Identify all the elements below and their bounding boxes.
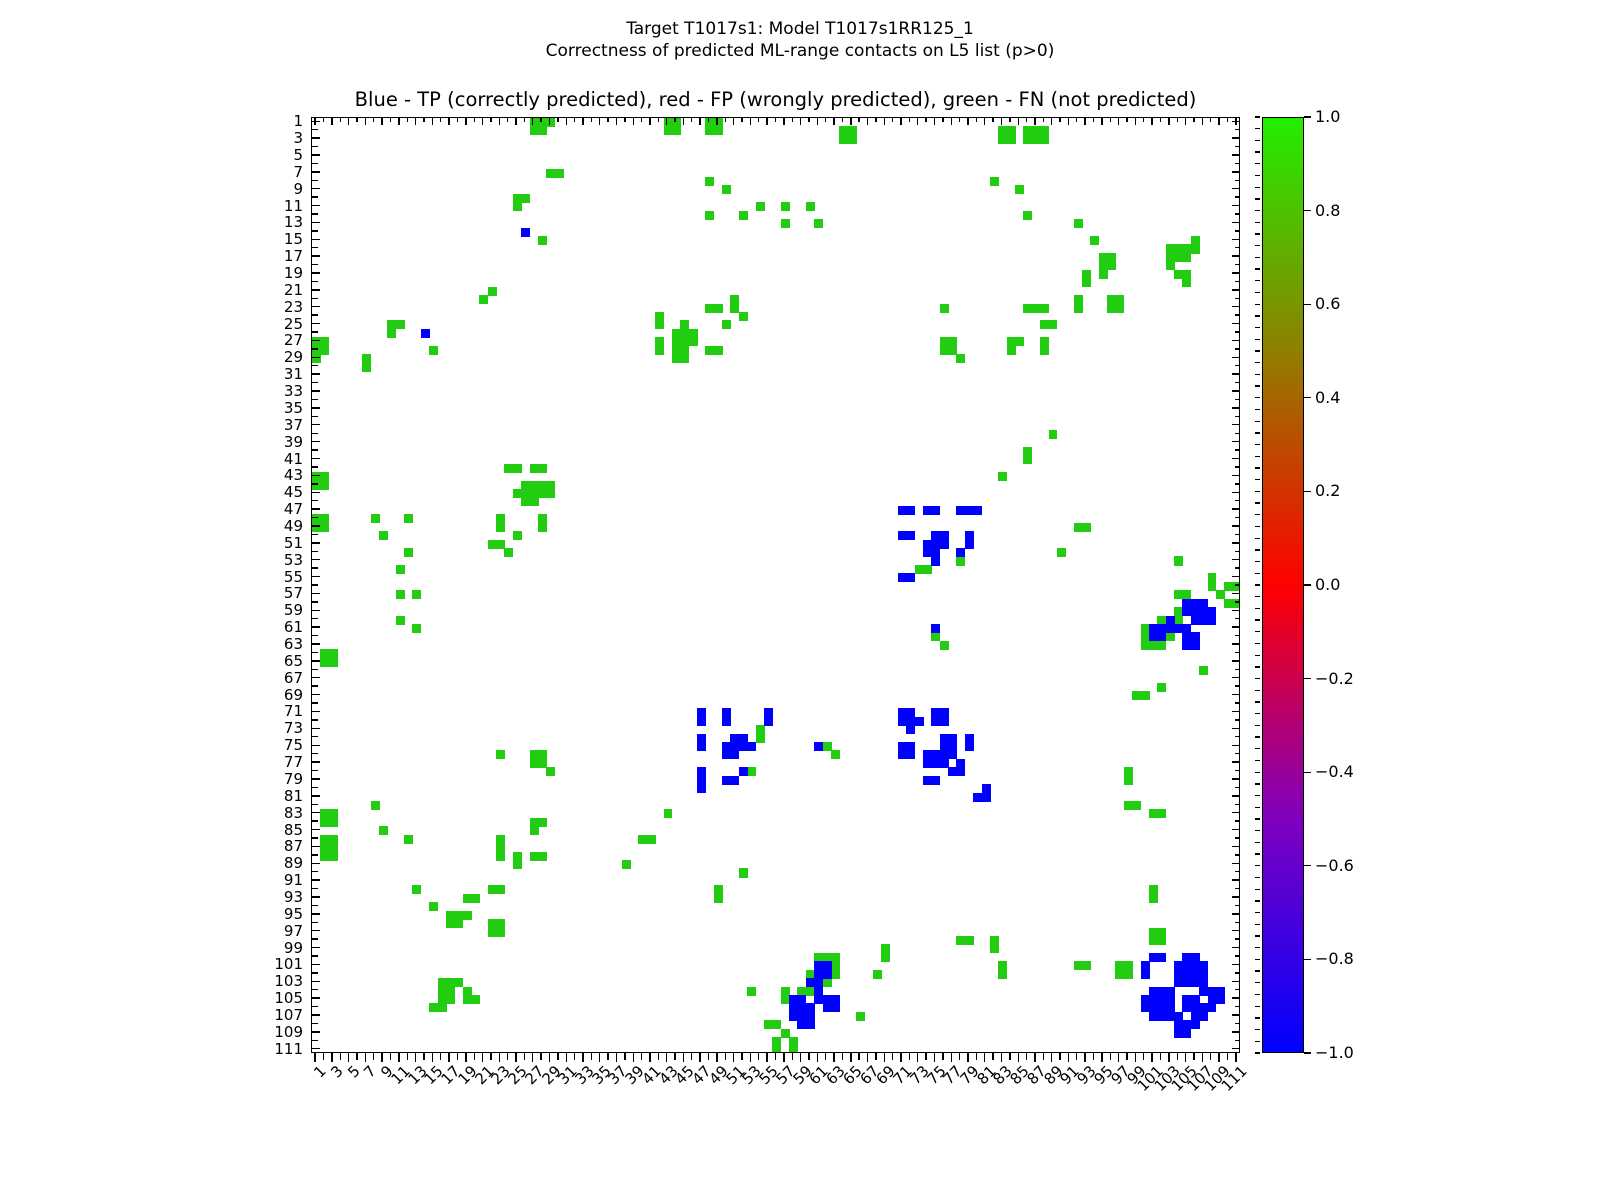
- x-axis-tick: [465, 1053, 466, 1062]
- x-axis-tick: [415, 1053, 416, 1062]
- y-axis-tick: [311, 331, 318, 332]
- y-axis-tick: [311, 972, 318, 973]
- x-axis-tick-mirror: [833, 117, 834, 125]
- contact-cell: [722, 185, 731, 194]
- y-axis-tick-mirror: [1235, 416, 1240, 417]
- contact-cell: [747, 742, 756, 751]
- colorbar-minor-tick: [1255, 994, 1260, 995]
- colorbar-minor-tick: [1255, 877, 1260, 878]
- contact-cell: [705, 211, 714, 220]
- contact-cell: [538, 464, 547, 473]
- y-axis-label: 89: [243, 854, 303, 872]
- x-axis-tick-mirror: [858, 117, 859, 122]
- x-axis-tick: [1001, 1053, 1002, 1062]
- y-axis-label: 105: [243, 989, 303, 1007]
- colorbar-tick: [1304, 304, 1311, 305]
- x-axis-tick-mirror: [1177, 117, 1178, 122]
- colorbar-tick: [1304, 772, 1311, 773]
- y-axis-tick: [311, 298, 318, 299]
- contact-cell: [496, 885, 505, 894]
- colorbar-tick: [1304, 584, 1311, 585]
- contact-cell: [488, 287, 497, 296]
- colorbar-tick-label: 0.4: [1315, 388, 1340, 407]
- colorbar-minor-tick: [1255, 245, 1260, 246]
- contact-cell: [1082, 961, 1091, 970]
- colorbar-minor-tick: [1255, 912, 1260, 913]
- y-axis-tick: [311, 804, 318, 805]
- y-axis-tick-mirror: [1232, 424, 1240, 425]
- contact-cell: [956, 767, 965, 776]
- colorbar-minor-tick: [1255, 924, 1260, 925]
- x-axis-tick: [733, 1053, 734, 1062]
- y-axis-tick-mirror: [1235, 584, 1240, 585]
- x-axis-tick-mirror: [959, 117, 960, 122]
- x-axis-tick-mirror: [741, 117, 742, 122]
- y-axis-label: 27: [243, 331, 303, 349]
- contact-cell: [1007, 346, 1016, 355]
- y-axis-label: 95: [243, 905, 303, 923]
- contact-cell: [421, 329, 430, 338]
- y-axis-tick-mirror: [1235, 365, 1240, 366]
- contact-cell: [454, 919, 463, 928]
- x-axis-tick-mirror: [566, 117, 567, 125]
- y-axis-tick-mirror: [1232, 306, 1240, 307]
- y-axis-tick: [311, 938, 318, 939]
- x-axis-tick: [817, 1053, 818, 1062]
- x-axis-tick: [976, 1053, 977, 1060]
- y-axis-tick-mirror: [1235, 770, 1240, 771]
- y-axis-tick: [311, 399, 318, 400]
- y-axis-tick-mirror: [1235, 163, 1240, 164]
- x-axis-tick: [1051, 1053, 1052, 1062]
- colorbar-minor-tick: [1255, 187, 1260, 188]
- y-axis-label: 63: [243, 635, 303, 653]
- y-axis-tick: [311, 652, 318, 653]
- colorbar-minor-tick: [1255, 690, 1260, 691]
- contact-cell: [1157, 632, 1166, 641]
- y-axis-tick: [311, 492, 320, 493]
- x-axis-tick-mirror: [1185, 117, 1186, 125]
- x-axis-tick: [1043, 1053, 1044, 1060]
- x-axis-tick-mirror: [1009, 117, 1010, 122]
- contact-cell: [538, 236, 547, 245]
- contact-cell: [781, 202, 790, 211]
- x-axis-tick: [574, 1053, 575, 1060]
- y-axis-tick-mirror: [1235, 129, 1240, 130]
- colorbar-tick-label: 0.8: [1315, 201, 1340, 220]
- x-axis-tick: [775, 1053, 776, 1060]
- contact-cell: [513, 464, 522, 473]
- colorbar-minor-tick: [1255, 222, 1260, 223]
- x-axis-tick: [925, 1053, 926, 1060]
- x-axis-tick-mirror: [1043, 117, 1044, 122]
- colorbar-tick: [1304, 865, 1311, 866]
- x-axis-tick-mirror: [725, 117, 726, 122]
- x-axis-tick: [725, 1053, 726, 1060]
- x-axis-tick-mirror: [591, 117, 592, 122]
- y-axis-label: 35: [243, 399, 303, 417]
- axes-title-legend: Blue - TP (correctly predicted), red - F…: [311, 88, 1240, 111]
- y-axis-tick-mirror: [1232, 407, 1240, 408]
- x-axis-tick: [842, 1053, 843, 1060]
- y-axis-label: 107: [243, 1006, 303, 1024]
- contact-map-plot-area[interactable]: [311, 117, 1240, 1053]
- x-axis-tick-mirror: [423, 117, 424, 122]
- y-axis-tick: [311, 829, 320, 830]
- colorbar-tick-label: 0.0: [1315, 575, 1340, 594]
- contact-cell: [823, 970, 832, 979]
- x-axis-tick-mirror: [373, 117, 374, 122]
- y-axis-tick: [311, 517, 318, 518]
- x-axis-tick-mirror: [783, 117, 784, 125]
- colorbar-minor-tick: [1255, 736, 1260, 737]
- contact-cell: [931, 556, 940, 565]
- colorbar-minor-tick: [1255, 409, 1260, 410]
- contact-cell: [504, 548, 513, 557]
- x-axis-tick: [381, 1053, 382, 1062]
- y-axis-label: 91: [243, 871, 303, 889]
- colorbar-minor-tick: [1255, 421, 1260, 422]
- contact-cell: [655, 320, 664, 329]
- y-axis-tick-mirror: [1232, 930, 1240, 931]
- contact-cell: [714, 304, 723, 313]
- y-axis-tick-mirror: [1235, 652, 1240, 653]
- y-axis-label: 47: [243, 500, 303, 518]
- contact-cell: [362, 363, 371, 372]
- contact-cell: [1040, 304, 1049, 313]
- colorbar-minor-tick: [1255, 514, 1260, 515]
- y-axis-tick-mirror: [1235, 466, 1240, 467]
- x-axis-tick: [858, 1053, 859, 1060]
- x-axis-tick: [348, 1053, 349, 1062]
- y-axis-tick: [311, 137, 320, 138]
- suptitle-line-1: Target T1017s1: Model T1017s1RR125_1: [0, 18, 1600, 40]
- colorbar-minor-tick: [1255, 257, 1260, 258]
- y-axis-tick-mirror: [1235, 804, 1240, 805]
- colorbar-minor-tick: [1255, 772, 1260, 773]
- y-axis-tick: [311, 677, 320, 678]
- y-axis-tick: [311, 795, 320, 796]
- y-axis-label: 3: [243, 129, 303, 147]
- y-axis-label: 23: [243, 298, 303, 316]
- x-axis-tick: [549, 1053, 550, 1062]
- y-axis-tick-mirror: [1232, 1031, 1240, 1032]
- y-axis-tick: [311, 601, 318, 602]
- y-axis-label: 81: [243, 787, 303, 805]
- colorbar-minor-tick: [1255, 280, 1260, 281]
- x-axis-tick: [1202, 1053, 1203, 1062]
- contact-cell: [1166, 632, 1175, 641]
- colorbar-minor-tick: [1255, 233, 1260, 234]
- contact-cell: [438, 1003, 447, 1012]
- x-axis-tick: [340, 1053, 341, 1060]
- y-axis-tick-mirror: [1232, 761, 1240, 762]
- contact-cell: [1015, 337, 1024, 346]
- contact-cell: [956, 556, 965, 565]
- contact-cell: [1023, 455, 1032, 464]
- contact-cell: [956, 548, 965, 557]
- y-axis-tick: [311, 466, 318, 467]
- x-axis-tick-mirror: [817, 117, 818, 125]
- contact-cell: [747, 987, 756, 996]
- y-axis-label: 7: [243, 163, 303, 181]
- x-axis-tick: [1084, 1053, 1085, 1062]
- x-axis-tick: [1018, 1053, 1019, 1062]
- x-axis-tick: [1093, 1053, 1094, 1060]
- contact-cell: [513, 531, 522, 540]
- y-axis-tick: [311, 373, 320, 374]
- contact-cell: [622, 860, 631, 869]
- y-axis-tick: [311, 947, 320, 948]
- y-axis-tick: [311, 1006, 318, 1007]
- y-axis-tick: [311, 163, 318, 164]
- y-axis-label: 51: [243, 534, 303, 552]
- contact-cell: [320, 346, 329, 355]
- y-axis-label: 33: [243, 382, 303, 400]
- x-axis-tick-mirror: [482, 117, 483, 125]
- contact-cell: [756, 734, 765, 743]
- colorbar-minor-tick: [1255, 795, 1260, 796]
- x-axis-tick: [373, 1053, 374, 1060]
- y-axis-label: 41: [243, 450, 303, 468]
- y-axis-tick-mirror: [1235, 534, 1240, 535]
- y-axis-tick-mirror: [1232, 559, 1240, 560]
- y-axis-tick: [311, 255, 320, 256]
- contact-cell: [396, 320, 405, 329]
- x-axis-tick: [766, 1053, 767, 1062]
- y-axis-tick-mirror: [1235, 281, 1240, 282]
- contact-cell: [831, 750, 840, 759]
- colorbar-tick-label: −1.0: [1315, 1043, 1354, 1062]
- x-axis-tick-mirror: [1059, 117, 1060, 122]
- contact-cell: [329, 818, 338, 827]
- y-axis-tick: [311, 205, 320, 206]
- y-axis-label: 93: [243, 888, 303, 906]
- y-axis-label: 69: [243, 686, 303, 704]
- y-axis-label: 109: [243, 1023, 303, 1041]
- contact-cell: [1157, 809, 1166, 818]
- y-axis-label: 15: [243, 230, 303, 248]
- y-axis-tick-mirror: [1232, 896, 1240, 897]
- contact-cell: [396, 616, 405, 625]
- contact-cell: [730, 750, 739, 759]
- contact-cell: [1149, 641, 1158, 650]
- colorbar-minor-tick: [1255, 970, 1260, 971]
- contact-cell: [538, 126, 547, 135]
- contact-cell: [1099, 253, 1108, 262]
- y-axis-tick-mirror: [1232, 610, 1240, 611]
- y-axis-tick: [311, 475, 320, 476]
- x-axis-tick-mirror: [683, 117, 684, 125]
- x-axis-tick-mirror: [532, 117, 533, 125]
- x-axis-tick-mirror: [1068, 117, 1069, 125]
- y-axis-tick: [311, 500, 318, 501]
- y-axis-tick: [311, 812, 320, 813]
- y-axis-tick: [311, 416, 318, 417]
- y-axis-tick: [311, 955, 318, 956]
- contact-cell: [697, 784, 706, 793]
- y-axis-tick-mirror: [1232, 323, 1240, 324]
- x-axis-tick-mirror: [649, 117, 650, 125]
- y-axis-tick-mirror: [1232, 289, 1240, 290]
- x-axis-tick: [616, 1053, 617, 1062]
- x-axis-tick-mirror: [457, 117, 458, 122]
- contact-cell: [697, 742, 706, 751]
- colorbar-minor-tick: [1255, 631, 1260, 632]
- x-axis-tick: [1185, 1053, 1186, 1062]
- x-axis-tick-mirror: [708, 117, 709, 122]
- x-axis-tick-mirror: [540, 117, 541, 122]
- colorbar-minor-tick: [1255, 1052, 1260, 1053]
- y-axis-tick: [311, 702, 318, 703]
- x-axis-tick-mirror: [967, 117, 968, 125]
- x-axis-tick: [1026, 1053, 1027, 1060]
- x-axis-tick: [833, 1053, 834, 1062]
- y-axis-label: 21: [243, 281, 303, 299]
- x-axis-tick-mirror: [574, 117, 575, 122]
- x-axis-tick: [1235, 1053, 1236, 1062]
- y-axis-tick-mirror: [1232, 508, 1240, 509]
- y-axis-tick-mirror: [1235, 905, 1240, 906]
- x-axis-tick: [1193, 1053, 1194, 1060]
- y-axis-tick-mirror: [1232, 171, 1240, 172]
- x-axis-tick-mirror: [867, 117, 868, 125]
- x-axis-tick: [457, 1053, 458, 1060]
- x-axis-tick: [892, 1053, 893, 1060]
- y-axis-label: 65: [243, 652, 303, 670]
- x-axis-tick-mirror: [490, 117, 491, 122]
- y-axis-tick: [311, 930, 320, 931]
- contact-cell: [521, 194, 530, 203]
- y-axis-tick-mirror: [1235, 1006, 1240, 1007]
- contact-cell: [931, 624, 940, 633]
- y-axis-label: 111: [243, 1040, 303, 1058]
- y-axis-tick: [311, 770, 318, 771]
- x-axis-tick-mirror: [1218, 117, 1219, 125]
- x-axis-tick-mirror: [499, 117, 500, 125]
- colorbar-minor-tick: [1255, 807, 1260, 808]
- y-axis-tick: [311, 854, 318, 855]
- y-axis-tick: [311, 525, 320, 526]
- y-axis-tick: [311, 390, 320, 391]
- contact-cell: [1199, 666, 1208, 675]
- y-axis-label: 67: [243, 669, 303, 687]
- y-axis-tick: [311, 289, 320, 290]
- y-axis-tick: [311, 669, 318, 670]
- y-axis-tick-mirror: [1232, 222, 1240, 223]
- contact-cell: [973, 506, 982, 515]
- contact-cell: [705, 177, 714, 186]
- contact-cell: [1191, 641, 1200, 650]
- contact-cell: [739, 868, 748, 877]
- colorbar-tick: [1304, 678, 1311, 679]
- contact-cell: [848, 135, 857, 144]
- contact-cell: [1090, 236, 1099, 245]
- y-axis-tick-mirror: [1235, 567, 1240, 568]
- contact-cell: [1157, 953, 1166, 962]
- contact-cell: [722, 320, 731, 329]
- colorbar-minor-tick: [1255, 339, 1260, 340]
- y-axis-label: 77: [243, 753, 303, 771]
- x-axis-tick: [1218, 1053, 1219, 1062]
- y-axis-tick-mirror: [1232, 137, 1240, 138]
- y-axis-tick-mirror: [1235, 348, 1240, 349]
- x-axis-tick: [967, 1053, 968, 1062]
- y-axis-tick: [311, 761, 320, 762]
- colorbar-minor-tick: [1255, 818, 1260, 819]
- x-axis-tick-mirror: [758, 117, 759, 122]
- x-axis-tick: [658, 1053, 659, 1060]
- y-axis-label: 11: [243, 197, 303, 215]
- x-axis-tick-mirror: [792, 117, 793, 122]
- x-axis-tick-mirror: [390, 117, 391, 122]
- x-axis-tick-mirror: [474, 117, 475, 122]
- y-axis-tick-mirror: [1235, 820, 1240, 821]
- y-axis-label: 39: [243, 433, 303, 451]
- y-axis-tick: [311, 433, 318, 434]
- x-axis-tick: [649, 1053, 650, 1062]
- contact-cell: [1040, 346, 1049, 355]
- contact-cell: [530, 826, 539, 835]
- x-axis-tick-mirror: [381, 117, 382, 125]
- colorbar-tick-label: 1.0: [1315, 107, 1340, 126]
- y-axis-tick: [311, 626, 320, 627]
- contact-cell: [1182, 253, 1191, 262]
- colorbar-minor-tick: [1255, 151, 1260, 152]
- colorbar[interactable]: [1262, 117, 1304, 1053]
- colorbar-minor-tick: [1255, 502, 1260, 503]
- y-axis-tick: [311, 610, 320, 611]
- y-axis-tick: [311, 576, 320, 577]
- contact-cell: [387, 329, 396, 338]
- contact-cell: [404, 835, 413, 844]
- y-axis-label: 83: [243, 804, 303, 822]
- x-axis-tick-mirror: [1151, 117, 1152, 125]
- x-axis-tick: [607, 1053, 608, 1060]
- x-axis-tick: [959, 1053, 960, 1060]
- x-axis-tick-mirror: [515, 117, 516, 125]
- contact-cell: [1015, 185, 1024, 194]
- y-axis-tick-mirror: [1235, 702, 1240, 703]
- y-axis-tick-mirror: [1232, 255, 1240, 256]
- x-axis-tick-mirror: [842, 117, 843, 122]
- x-axis-tick: [474, 1053, 475, 1060]
- contact-cell: [730, 776, 739, 785]
- x-axis-tick: [398, 1053, 399, 1062]
- contact-cell: [906, 750, 915, 759]
- y-axis-tick-mirror: [1232, 188, 1240, 189]
- y-axis-label: 55: [243, 568, 303, 586]
- contact-cell: [722, 717, 731, 726]
- contact-cell: [990, 944, 999, 953]
- y-axis-tick: [311, 1031, 320, 1032]
- x-axis-tick-mirror: [1018, 117, 1019, 125]
- contact-cell: [814, 219, 823, 228]
- y-axis-tick: [311, 171, 320, 172]
- colorbar-minor-tick: [1255, 1006, 1260, 1007]
- contact-cell: [446, 995, 455, 1004]
- contact-cell: [538, 818, 547, 827]
- contact-cell: [680, 354, 689, 363]
- contact-cell: [320, 481, 329, 490]
- y-axis-tick: [311, 188, 320, 189]
- contact-cell: [379, 826, 388, 835]
- x-axis-tick: [591, 1053, 592, 1060]
- contact-cell: [1208, 616, 1217, 625]
- contact-cell: [906, 506, 915, 515]
- colorbar-minor-tick: [1255, 526, 1260, 527]
- x-axis-tick: [524, 1053, 525, 1060]
